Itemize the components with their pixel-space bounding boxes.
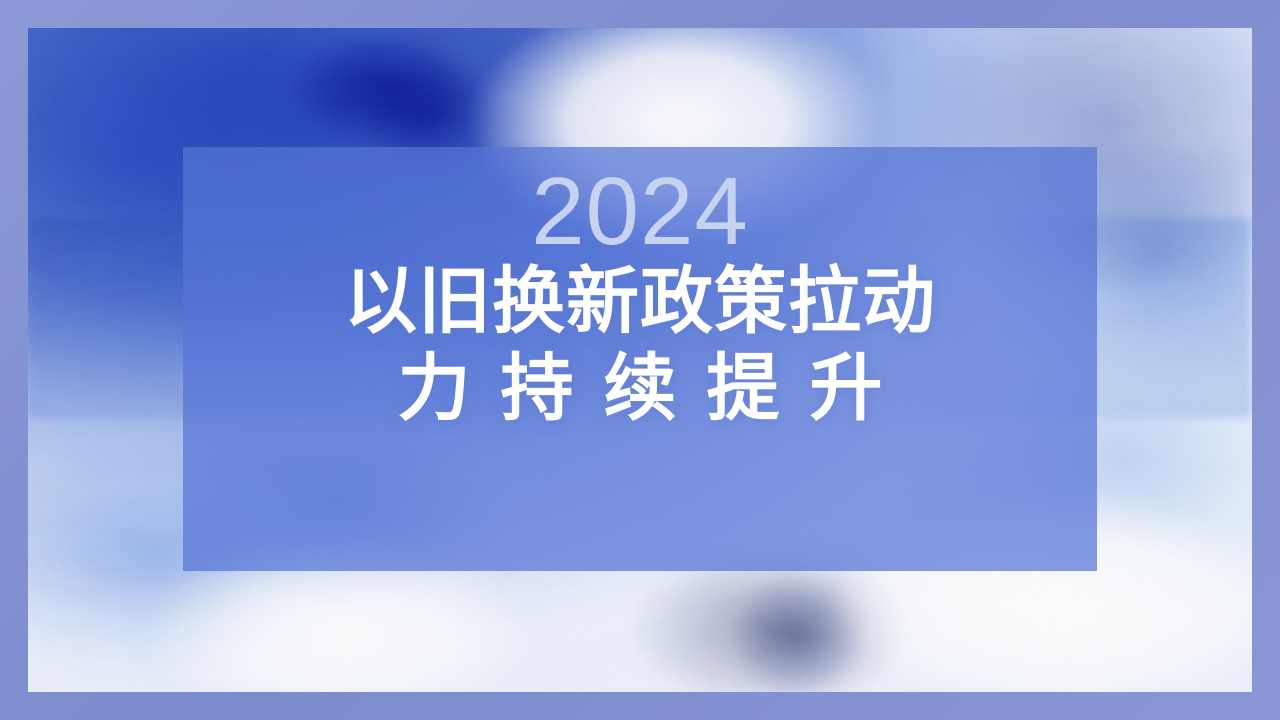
title-slide: 2024 以旧换新政策拉动 力持续提升 bbox=[0, 0, 1280, 720]
year-label: 2024 bbox=[531, 163, 749, 261]
headline-line-2: 力持续提升 bbox=[368, 350, 913, 429]
headline-line-1: 以旧换新政策拉动 bbox=[344, 263, 936, 342]
title-text-block: 2024 以旧换新政策拉动 力持续提升 bbox=[183, 147, 1097, 571]
